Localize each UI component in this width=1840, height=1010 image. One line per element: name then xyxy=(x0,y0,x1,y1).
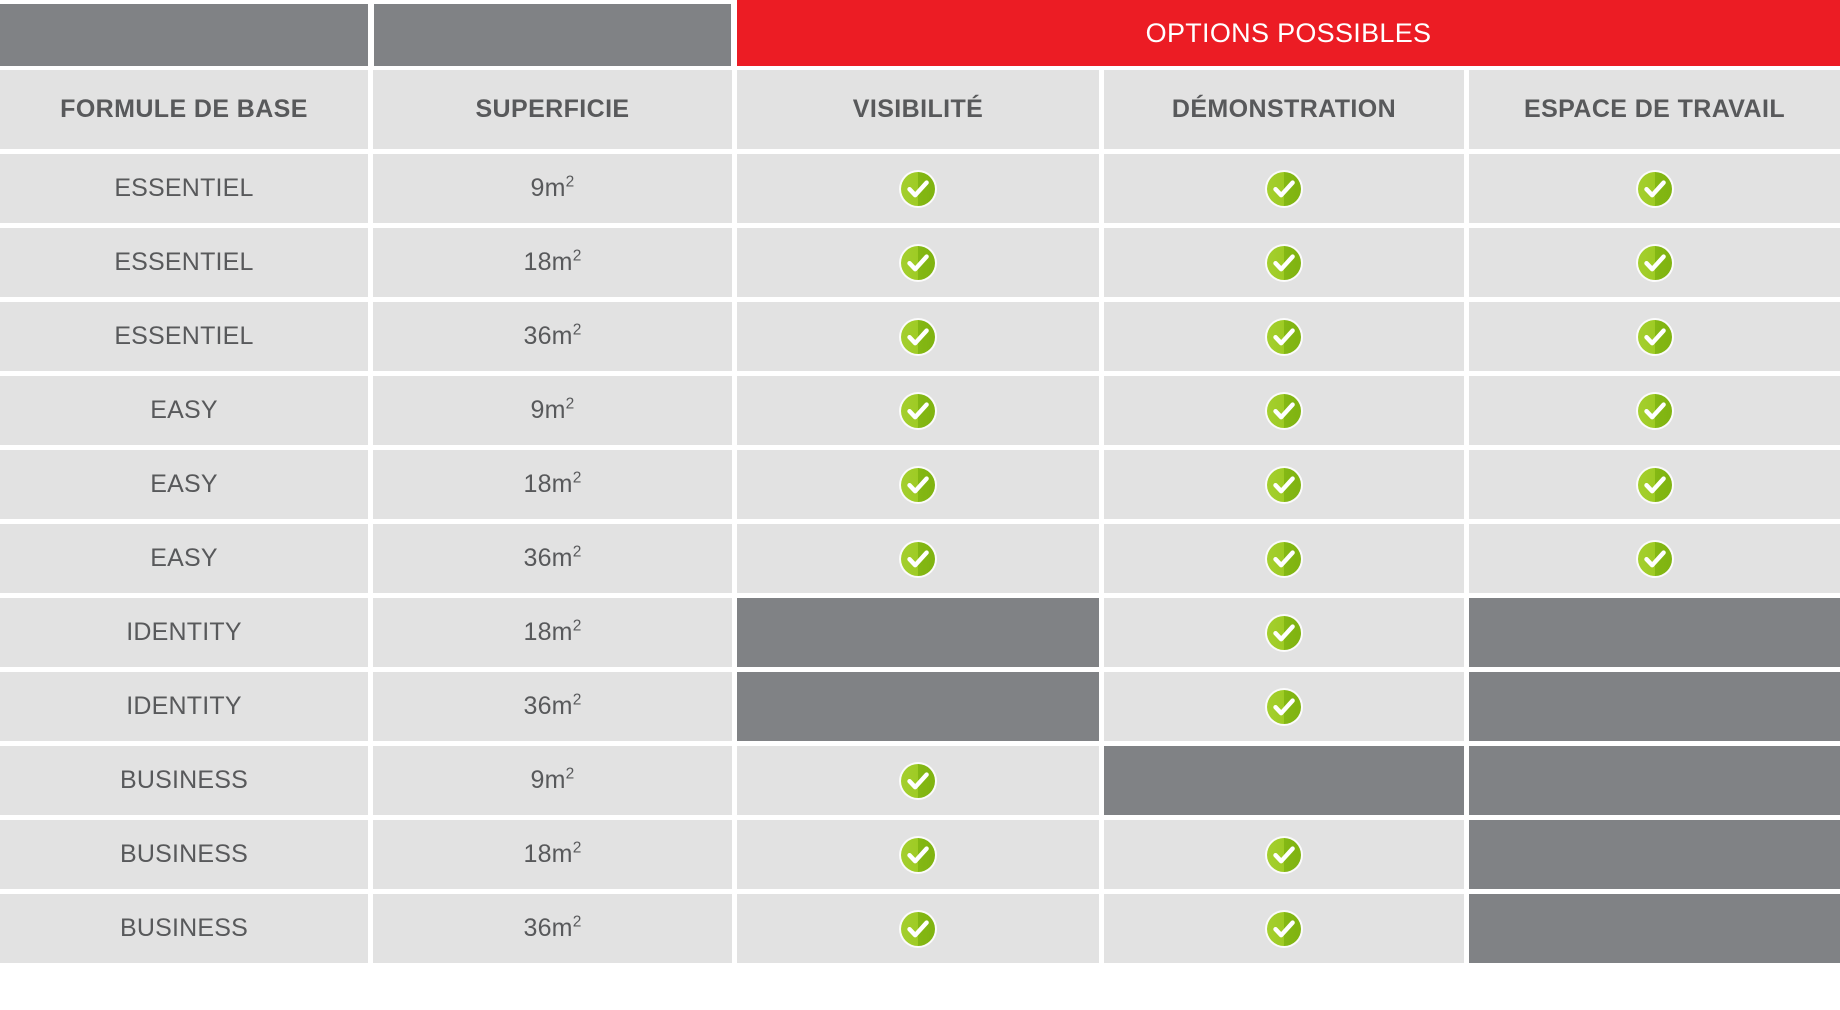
cell-espace-de-travail xyxy=(1469,598,1840,667)
cell-visibilite xyxy=(737,376,1099,445)
cell-espace-de-travail xyxy=(1469,450,1840,519)
cell-visibilite xyxy=(737,672,1099,741)
superficie-exponent: 2 xyxy=(573,544,582,561)
cell-espace-de-travail xyxy=(1469,376,1840,445)
cell-superficie: 36m2 xyxy=(373,524,732,593)
check-circle-icon xyxy=(1264,465,1304,505)
cell-superficie: 18m2 xyxy=(373,820,732,889)
table-row: IDENTITY36m2 xyxy=(0,672,1840,746)
check-circle-icon xyxy=(1635,169,1675,209)
check-circle-icon xyxy=(1264,687,1304,727)
cell-formule: EASY xyxy=(0,450,368,519)
check-circle-icon xyxy=(1635,391,1675,431)
cell-visibilite xyxy=(737,820,1099,889)
table-row: ESSENTIEL9m2 xyxy=(0,154,1840,228)
check-circle-icon xyxy=(1264,613,1304,653)
check-circle-icon xyxy=(1264,835,1304,875)
superficie-value: 36m2 xyxy=(523,914,581,943)
table-row: EASY36m2 xyxy=(0,524,1840,598)
cell-superficie: 18m2 xyxy=(373,450,732,519)
superficie-value: 9m2 xyxy=(531,766,575,795)
check-circle-icon xyxy=(1264,391,1304,431)
cell-demonstration xyxy=(1104,302,1464,371)
superficie-value: 36m2 xyxy=(523,322,581,351)
cell-formule: ESSENTIEL xyxy=(0,302,368,371)
check-circle-icon xyxy=(1264,317,1304,357)
cell-demonstration xyxy=(1104,524,1464,593)
superficie-value: 18m2 xyxy=(523,470,581,499)
cell-superficie: 9m2 xyxy=(373,376,732,445)
cell-superficie: 9m2 xyxy=(373,746,732,815)
cell-espace-de-travail xyxy=(1469,672,1840,741)
cell-formule: BUSINESS xyxy=(0,894,368,963)
cell-superficie: 9m2 xyxy=(373,154,732,223)
cell-superficie: 36m2 xyxy=(373,894,732,963)
superficie-value: 36m2 xyxy=(523,544,581,573)
cell-formule: EASY xyxy=(0,524,368,593)
superficie-value: 36m2 xyxy=(523,692,581,721)
superficie-exponent: 2 xyxy=(573,618,582,635)
cell-visibilite xyxy=(737,524,1099,593)
check-circle-icon xyxy=(1264,539,1304,579)
superficie-exponent: 2 xyxy=(566,766,575,783)
check-circle-icon xyxy=(898,909,938,949)
table-row: BUSINESS9m2 xyxy=(0,746,1840,820)
check-circle-icon xyxy=(1635,243,1675,283)
check-circle-icon xyxy=(898,169,938,209)
check-circle-icon xyxy=(898,761,938,801)
table-row: ESSENTIEL36m2 xyxy=(0,302,1840,376)
cell-formule: BUSINESS xyxy=(0,820,368,889)
column-header-espace-de-travail: ESPACE DE TRAVAIL xyxy=(1469,70,1840,149)
table-body: ESSENTIEL9m2ESSENTIEL18m2ESSENTIEL36m2EA… xyxy=(0,154,1840,968)
check-circle-icon xyxy=(1635,539,1675,579)
cell-demonstration xyxy=(1104,154,1464,223)
check-circle-icon xyxy=(1264,909,1304,949)
check-circle-icon xyxy=(898,391,938,431)
superficie-exponent: 2 xyxy=(573,914,582,931)
cell-espace-de-travail xyxy=(1469,894,1840,963)
superficie-exponent: 2 xyxy=(566,174,575,191)
cell-formule: IDENTITY xyxy=(0,672,368,741)
options-possibles-banner: OPTIONS POSSIBLES xyxy=(737,0,1840,66)
superficie-value: 9m2 xyxy=(531,174,575,203)
table-row: EASY9m2 xyxy=(0,376,1840,450)
superficie-exponent: 2 xyxy=(566,396,575,413)
cell-demonstration xyxy=(1104,450,1464,519)
table-row: ESSENTIEL18m2 xyxy=(0,228,1840,302)
cell-espace-de-travail xyxy=(1469,154,1840,223)
cell-demonstration xyxy=(1104,894,1464,963)
table-banner-row: OPTIONS POSSIBLES xyxy=(0,0,1840,70)
cell-visibilite xyxy=(737,746,1099,815)
superficie-value: 18m2 xyxy=(523,840,581,869)
cell-visibilite xyxy=(737,598,1099,667)
check-circle-icon xyxy=(898,243,938,283)
table-row: IDENTITY18m2 xyxy=(0,598,1840,672)
superficie-value: 18m2 xyxy=(523,248,581,277)
cell-formule: BUSINESS xyxy=(0,746,368,815)
cell-espace-de-travail xyxy=(1469,228,1840,297)
cell-formule: ESSENTIEL xyxy=(0,228,368,297)
cell-espace-de-travail xyxy=(1469,524,1840,593)
cell-visibilite xyxy=(737,450,1099,519)
table-row: BUSINESS18m2 xyxy=(0,820,1840,894)
check-circle-icon xyxy=(898,317,938,357)
check-circle-icon xyxy=(1264,243,1304,283)
table-row: EASY18m2 xyxy=(0,450,1840,524)
cell-superficie: 18m2 xyxy=(373,228,732,297)
check-circle-icon xyxy=(1635,465,1675,505)
cell-espace-de-travail xyxy=(1469,746,1840,815)
superficie-exponent: 2 xyxy=(573,840,582,857)
superficie-value: 9m2 xyxy=(531,396,575,425)
cell-demonstration xyxy=(1104,746,1464,815)
cell-demonstration xyxy=(1104,228,1464,297)
column-header-visibilite: VISIBILITÉ xyxy=(737,70,1099,149)
banner-spacer-superficie xyxy=(374,4,731,66)
check-circle-icon xyxy=(898,465,938,505)
cell-visibilite xyxy=(737,302,1099,371)
cell-demonstration xyxy=(1104,598,1464,667)
cell-demonstration xyxy=(1104,376,1464,445)
cell-formule: IDENTITY xyxy=(0,598,368,667)
cell-formule: ESSENTIEL xyxy=(0,154,368,223)
cell-visibilite xyxy=(737,228,1099,297)
superficie-exponent: 2 xyxy=(573,692,582,709)
check-circle-icon xyxy=(898,835,938,875)
banner-spacer-formule xyxy=(0,4,368,66)
column-header-superficie: SUPERFICIE xyxy=(373,70,732,149)
cell-superficie: 18m2 xyxy=(373,598,732,667)
check-circle-icon xyxy=(1635,317,1675,357)
superficie-value: 18m2 xyxy=(523,618,581,647)
cell-formule: EASY xyxy=(0,376,368,445)
cell-superficie: 36m2 xyxy=(373,672,732,741)
check-circle-icon xyxy=(898,539,938,579)
table-row: BUSINESS36m2 xyxy=(0,894,1840,968)
cell-espace-de-travail xyxy=(1469,302,1840,371)
column-header-row: FORMULE DE BASE SUPERFICIE VISIBILITÉ DÉ… xyxy=(0,70,1840,154)
superficie-exponent: 2 xyxy=(573,322,582,339)
cell-superficie: 36m2 xyxy=(373,302,732,371)
superficie-exponent: 2 xyxy=(573,470,582,487)
superficie-exponent: 2 xyxy=(573,248,582,265)
cell-visibilite xyxy=(737,894,1099,963)
cell-espace-de-travail xyxy=(1469,820,1840,889)
column-header-formule: FORMULE DE BASE xyxy=(0,70,368,149)
cell-demonstration xyxy=(1104,672,1464,741)
cell-demonstration xyxy=(1104,820,1464,889)
column-header-demonstration: DÉMONSTRATION xyxy=(1104,70,1464,149)
check-circle-icon xyxy=(1264,169,1304,209)
pricing-options-table: OPTIONS POSSIBLES FORMULE DE BASE SUPERF… xyxy=(0,0,1840,1010)
cell-visibilite xyxy=(737,154,1099,223)
